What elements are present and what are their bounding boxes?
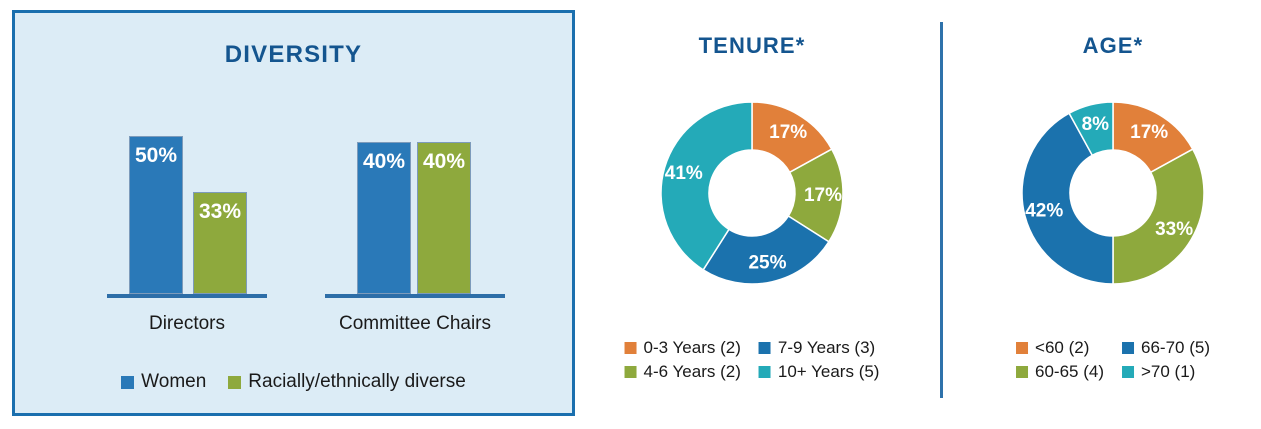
- age-slice-label-1: 33%: [1155, 219, 1193, 240]
- age-slice-label-3: 8%: [1082, 114, 1110, 135]
- tenure-legend-item-1: 7-9 Years (3): [759, 338, 880, 358]
- vertical-divider: [940, 22, 943, 398]
- tenure-slice-label-1: 17%: [804, 185, 842, 206]
- bar-chairs-women: 40%: [357, 142, 411, 294]
- infographic-root: DIVERSITY 50% 33% 40% 40%: [0, 0, 1261, 429]
- tenure-legend-item-3: 10+ Years (5): [759, 362, 880, 382]
- age-panel: AGE* 17%33%42%8% <60 (2)66-70 (5)60-65 (…: [953, 0, 1261, 429]
- tenure-donut-chart: 17%17%25%41%: [659, 100, 845, 286]
- legend-label-women: Women: [141, 371, 206, 393]
- tenure-legend: 0-3 Years (2)7-9 Years (3)4-6 Years (2)1…: [625, 338, 880, 382]
- age-legend-label-3: >70 (1): [1141, 362, 1195, 382]
- diversity-legend: Women Racially/ethnically diverse: [15, 371, 572, 393]
- age-legend-label-2: 60-65 (4): [1035, 362, 1104, 382]
- bar-directors-women: 50%: [129, 136, 183, 294]
- age-legend-label-0: <60 (2): [1035, 338, 1089, 358]
- age-legend: <60 (2)66-70 (5)60-65 (4)>70 (1): [1016, 338, 1210, 382]
- category-label-directors: Directors: [107, 313, 267, 335]
- tenure-legend-item-0: 0-3 Years (2): [625, 338, 741, 358]
- legend-label-diverse: Racially/ethnically diverse: [248, 371, 466, 393]
- diversity-bar-chart: 50% 33% 40% 40%: [15, 108, 578, 298]
- bar-group-committee-chairs: 40% 40%: [325, 108, 505, 298]
- bar-directors-diverse: 33%: [193, 192, 247, 294]
- age-legend-swatch-0: [1016, 342, 1028, 354]
- bar-label-chairs-women: 40%: [358, 150, 410, 174]
- age-slice-label-0: 17%: [1130, 122, 1168, 143]
- diversity-panel: DIVERSITY 50% 33% 40% 40%: [12, 10, 575, 416]
- diversity-title: DIVERSITY: [15, 41, 572, 69]
- tenure-legend-label-3: 10+ Years (5): [778, 362, 880, 382]
- tenure-slice-label-2: 25%: [748, 252, 786, 273]
- tenure-legend-label-0: 0-3 Years (2): [644, 338, 741, 358]
- tenure-legend-swatch-0: [625, 342, 637, 354]
- age-legend-swatch-1: [1122, 342, 1134, 354]
- legend-item-women: Women: [121, 371, 206, 393]
- age-title: AGE*: [953, 33, 1261, 59]
- tenure-donut-svg: 17%17%25%41%: [659, 100, 845, 286]
- age-legend-item-0: <60 (2): [1016, 338, 1104, 358]
- bar-label-directors-women: 50%: [130, 144, 182, 168]
- age-slice-1[interactable]: [1113, 149, 1204, 284]
- tenure-slice-label-0: 17%: [769, 122, 807, 143]
- tenure-slice-label-3: 41%: [665, 163, 703, 184]
- age-legend-item-2: 60-65 (4): [1016, 362, 1104, 382]
- legend-swatch-diverse: [228, 376, 241, 389]
- age-legend-swatch-2: [1016, 366, 1028, 378]
- age-donut-svg: 17%33%42%8%: [1020, 100, 1206, 286]
- age-donut-chart: 17%33%42%8%: [1020, 100, 1206, 286]
- bar-chairs-diverse: 40%: [417, 142, 471, 294]
- tenure-legend-swatch-2: [625, 366, 637, 378]
- age-legend-item-1: 66-70 (5): [1122, 338, 1210, 358]
- age-legend-swatch-3: [1122, 366, 1134, 378]
- bar-label-directors-diverse: 33%: [194, 200, 246, 224]
- age-legend-label-1: 66-70 (5): [1141, 338, 1210, 358]
- legend-item-diverse: Racially/ethnically diverse: [228, 371, 466, 393]
- axis-baseline-chairs: [325, 294, 505, 298]
- tenure-panel: TENURE* 17%17%25%41% 0-3 Years (2)7-9 Ye…: [592, 0, 912, 429]
- tenure-legend-label-1: 7-9 Years (3): [778, 338, 875, 358]
- tenure-title: TENURE*: [592, 33, 912, 59]
- bar-label-chairs-diverse: 40%: [418, 150, 470, 174]
- legend-swatch-women: [121, 376, 134, 389]
- bar-group-directors: 50% 33%: [107, 108, 267, 298]
- age-slice-label-2: 42%: [1025, 201, 1063, 222]
- category-label-committee-chairs: Committee Chairs: [320, 313, 510, 335]
- axis-baseline-directors: [107, 294, 267, 298]
- age-legend-item-3: >70 (1): [1122, 362, 1210, 382]
- tenure-legend-swatch-3: [759, 366, 771, 378]
- tenure-legend-item-2: 4-6 Years (2): [625, 362, 741, 382]
- tenure-legend-label-2: 4-6 Years (2): [644, 362, 741, 382]
- tenure-legend-swatch-1: [759, 342, 771, 354]
